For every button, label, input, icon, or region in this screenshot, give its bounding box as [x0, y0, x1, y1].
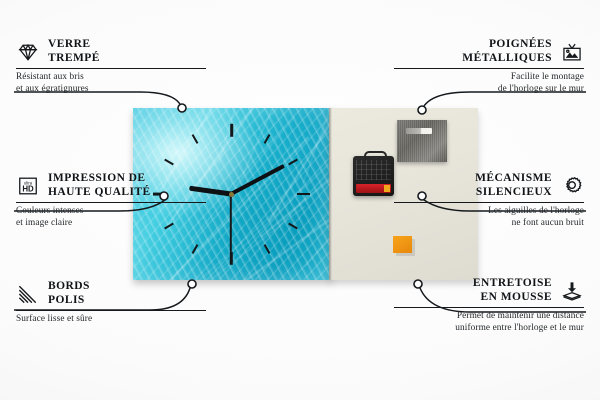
wall-mount-frame-icon — [560, 41, 584, 63]
metal-hanger-plate — [397, 120, 447, 162]
feature-title: MÉCANISME SILENCIEUX — [475, 172, 552, 199]
svg-text:HD: HD — [22, 184, 34, 193]
clock-tick — [264, 245, 271, 255]
clock-tick — [297, 193, 310, 196]
clock-tick — [164, 159, 174, 166]
feature-entretoise-en-mousse: ENTRETOISE EN MOUSSE Permet de maintenir… — [394, 277, 584, 335]
movement-texture — [356, 160, 391, 180]
clock-tick — [230, 123, 233, 136]
feature-heading: ENTRETOISE EN MOUSSE — [394, 277, 584, 304]
feature-title: BORDS POLIS — [48, 280, 90, 307]
divider — [16, 68, 206, 69]
clock-tick — [192, 245, 199, 255]
feature-heading: BORDS POLIS — [16, 280, 206, 307]
quartz-movement — [353, 156, 394, 196]
feature-heading: VERRE TREMPÉ — [16, 38, 206, 65]
clock-tick — [264, 134, 271, 144]
feature-title: ENTRETOISE EN MOUSSE — [473, 277, 552, 304]
feature-title: VERRE TREMPÉ — [48, 38, 100, 65]
foam-spacer — [393, 236, 412, 253]
divider — [394, 68, 584, 69]
feature-description: Les aiguilles de l'horloge ne font aucun… — [394, 206, 584, 230]
feature-mecanisme-silencieux: MÉCANISME SILENCIEUX Les aiguilles de l'… — [394, 172, 584, 230]
clock-second-hand — [230, 194, 232, 252]
divider — [394, 307, 584, 308]
feature-description: Résistant aux bris et aux égratignures — [16, 72, 206, 96]
clock-tick — [289, 159, 299, 166]
gear-icon — [560, 175, 584, 197]
clock-tick — [230, 251, 233, 264]
ultra-hd-icon: ultra HD — [16, 175, 40, 197]
feature-heading: ultra HD IMPRESSION DE HAUTE QUALITÉ — [16, 172, 206, 199]
feature-bords-polis: BORDS POLIS Surface lisse et sûre — [16, 280, 206, 326]
clock-center-pin — [229, 192, 234, 197]
feature-description: Surface lisse et sûre — [16, 314, 206, 326]
feature-title: IMPRESSION DE HAUTE QUALITÉ — [48, 172, 151, 199]
feature-poignees-metalliques: POIGNÉES MÉTALLIQUES Facilite le montage… — [394, 38, 584, 96]
feature-heading: MÉCANISME SILENCIEUX — [394, 172, 584, 199]
feature-impression-haute-qualite: ultra HD IMPRESSION DE HAUTE QUALITÉ Cou… — [16, 172, 206, 230]
feature-title: POIGNÉES MÉTALLIQUES — [462, 38, 552, 65]
feature-heading: POIGNÉES MÉTALLIQUES — [394, 38, 584, 65]
feature-verre-trempe: VERRE TREMPÉ Résistant aux bris et aux é… — [16, 38, 206, 96]
polished-edge-icon — [16, 283, 40, 305]
clock-tick — [192, 134, 199, 144]
divider — [16, 310, 206, 311]
diamond-icon — [16, 41, 40, 63]
feature-description: Permet de maintenir une distance uniform… — [394, 311, 584, 335]
product-infographic: VERRE TREMPÉ Résistant aux bris et aux é… — [0, 0, 600, 400]
divider — [16, 202, 206, 203]
feature-description: Facilite le montage de l'horloge sur le … — [394, 72, 584, 96]
feature-description: Couleurs intenses et image claire — [16, 206, 206, 230]
foam-spacer-icon — [560, 280, 584, 302]
clock-tick — [289, 223, 299, 230]
divider — [394, 202, 584, 203]
clock-minute-hand — [230, 164, 285, 196]
battery — [356, 184, 391, 193]
